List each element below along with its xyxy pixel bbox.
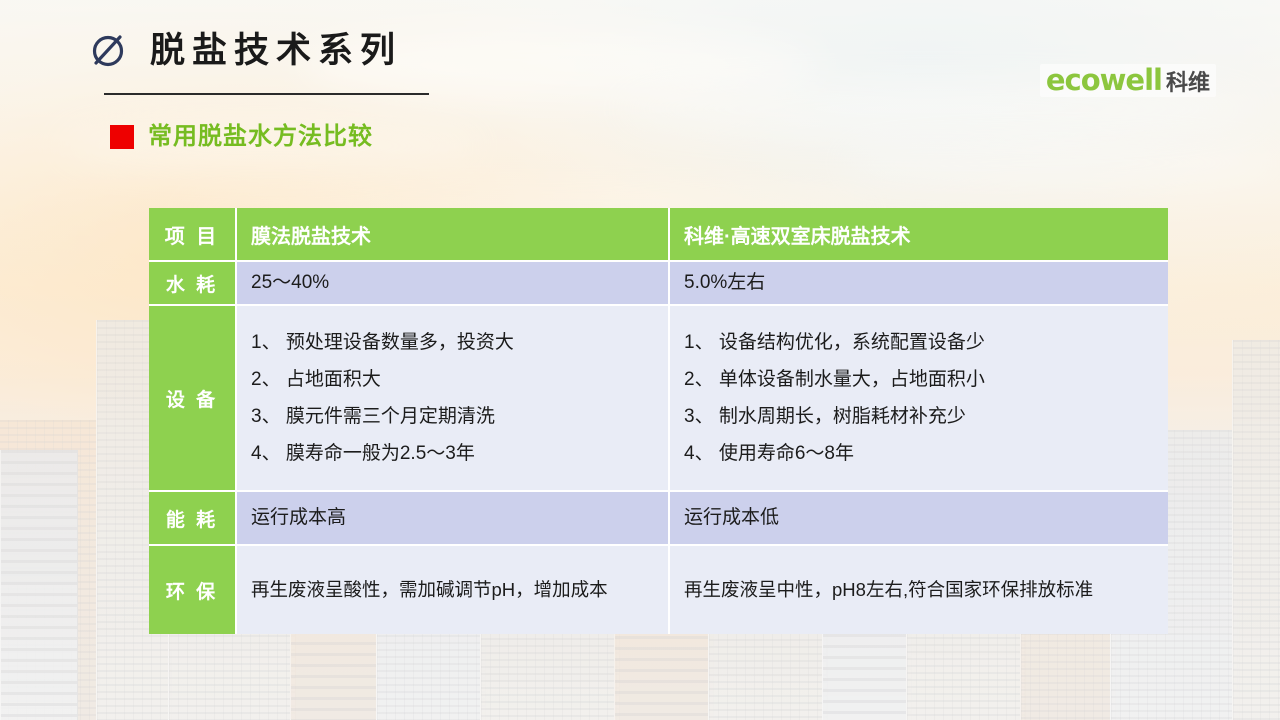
- list-item: 2、 单体设备制水量大，占地面积小: [684, 361, 1156, 398]
- column-header-item: 项 目: [149, 208, 237, 262]
- logo-chinese-name: 科维: [1166, 72, 1210, 94]
- row-label-environment: 环 保: [149, 546, 237, 634]
- building-shape: [0, 450, 78, 720]
- column-header-ecowell: 科维·高速双室床脱盐技术: [670, 208, 1168, 262]
- cell-water-ecowell: 5.0%左右: [670, 262, 1168, 306]
- cell-energy-membrane: 运行成本高: [237, 492, 670, 546]
- cell-equipment-ecowell: 1、 设备结构优化，系统配置设备少 2、 单体设备制水量大，占地面积小 3、 制…: [670, 306, 1168, 492]
- list-item: 3、 制水周期长，树脂耗材补充少: [684, 398, 1156, 435]
- cell-environment-membrane: 再生废液呈酸性，需加碱调节pH，增加成本: [237, 546, 670, 634]
- column-header-membrane: 膜法脱盐技术: [237, 208, 670, 262]
- cell-water-membrane: 25～40%: [237, 262, 670, 306]
- row-label-energy: 能 耗: [149, 492, 237, 546]
- page-title: 脱盐技术系列: [150, 33, 402, 68]
- list-item: 2、 占地面积大: [251, 361, 656, 398]
- logo-wordmark: ecowell: [1046, 66, 1162, 95]
- slide-canvas: 脱盐技术系列 ecowell 科维 常用脱盐水方法比较 项 目 膜法脱盐技术 科…: [0, 0, 1280, 720]
- list-item: 4、 使用寿命6～8年: [684, 435, 1156, 472]
- square-bullet-icon: [110, 125, 134, 149]
- cell-equipment-membrane: 1、 预处理设备数量多，投资大 2、 占地面积大 3、 膜元件需三个月定期清洗 …: [237, 306, 670, 492]
- table-row: 环 保 再生废液呈酸性，需加碱调节pH，增加成本 再生废液呈中性，pH8左右,符…: [149, 546, 1168, 634]
- diameter-icon: [88, 30, 128, 70]
- building-shape: [1232, 340, 1280, 720]
- equipment-ecowell-list: 1、 设备结构优化，系统配置设备少 2、 单体设备制水量大，占地面积小 3、 制…: [684, 324, 1156, 472]
- list-item: 3、 膜元件需三个月定期清洗: [251, 398, 656, 435]
- table-row: 设 备 1、 预处理设备数量多，投资大 2、 占地面积大 3、 膜元件需三个月定…: [149, 306, 1168, 492]
- comparison-table: 项 目 膜法脱盐技术 科维·高速双室床脱盐技术 水 耗 25～40% 5.0%左…: [149, 208, 1168, 634]
- table-header-row: 项 目 膜法脱盐技术 科维·高速双室床脱盐技术: [149, 208, 1168, 262]
- equipment-membrane-list: 1、 预处理设备数量多，投资大 2、 占地面积大 3、 膜元件需三个月定期清洗 …: [251, 324, 656, 472]
- subheading-label: 常用脱盐水方法比较: [148, 125, 373, 149]
- cell-energy-ecowell: 运行成本低: [670, 492, 1168, 546]
- cell-environment-ecowell: 再生废液呈中性，pH8左右,符合国家环保排放标准: [670, 546, 1168, 634]
- list-item: 1、 预处理设备数量多，投资大: [251, 324, 656, 361]
- row-label-water: 水 耗: [149, 262, 237, 306]
- title-underline: [104, 93, 429, 95]
- section-subheading: 常用脱盐水方法比较: [110, 125, 373, 149]
- cloud-shape: [840, 140, 1280, 186]
- table-row: 能 耗 运行成本高 运行成本低: [149, 492, 1168, 546]
- table-row: 水 耗 25～40% 5.0%左右: [149, 262, 1168, 306]
- list-item: 1、 设备结构优化，系统配置设备少: [684, 324, 1156, 361]
- row-label-equipment: 设 备: [149, 306, 237, 492]
- list-item: 4、 膜寿命一般为2.5～3年: [251, 435, 656, 472]
- brand-logo: ecowell 科维: [1040, 64, 1216, 97]
- page-title-row: 脱盐技术系列: [88, 30, 402, 70]
